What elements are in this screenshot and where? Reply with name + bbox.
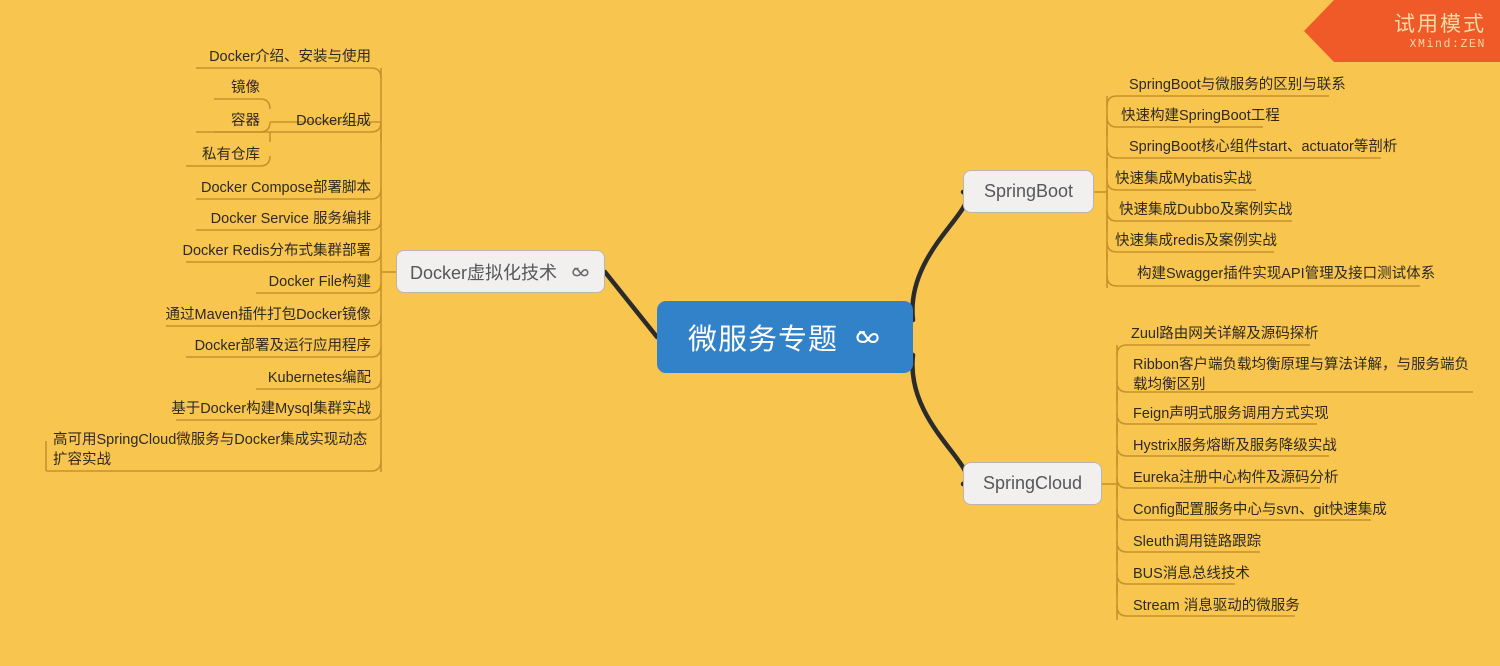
leaf-topic[interactable]: Sleuth调用链路跟踪: [1133, 532, 1261, 552]
branch-node-springboot-label: SpringBoot: [984, 181, 1073, 202]
leaf-topic[interactable]: 通过Maven插件打包Docker镜像: [106, 305, 371, 325]
leaf-topic[interactable]: Docker Redis分布式集群部署: [126, 241, 371, 261]
leaf-topic[interactable]: Docker Service 服务编排: [126, 209, 371, 229]
branch-node-springcloud[interactable]: SpringCloud: [963, 462, 1102, 505]
leaf-topic[interactable]: Stream 消息驱动的微服务: [1133, 596, 1300, 616]
leaf-topic[interactable]: Kubernetes编配: [126, 368, 371, 388]
mindmap-canvas[interactable]: 微服务专题 Docker虚拟化技术 SpringBoot SpringCloud…: [0, 0, 1500, 666]
leaf-topic[interactable]: 快速构建SpringBoot工程: [1121, 106, 1280, 126]
leaf-topic[interactable]: Eureka注册中心构件及源码分析: [1133, 468, 1338, 488]
leaf-topic[interactable]: 镜像: [110, 78, 260, 98]
leaf-topic[interactable]: SpringBoot核心组件start、actuator等剖析: [1129, 137, 1397, 157]
root-node-label: 微服务专题: [688, 316, 838, 358]
leaf-topic[interactable]: Docker介绍、安装与使用: [126, 47, 371, 67]
leaf-topic[interactable]: 构建Swagger插件实现API管理及接口测试体系: [1137, 264, 1435, 284]
root-node[interactable]: 微服务专题: [657, 301, 913, 373]
product-name-label: XMind:ZEN: [1409, 38, 1486, 51]
leaf-topic[interactable]: 高可用SpringCloud微服务与Docker集成实现动态扩容实战: [53, 430, 371, 470]
leaf-topic[interactable]: BUS消息总线技术: [1133, 564, 1250, 584]
leaf-topic[interactable]: 基于Docker构建Mysql集群实战: [116, 399, 371, 419]
leaf-topic[interactable]: Zuul路由网关详解及源码探析: [1131, 324, 1319, 344]
leaf-topic[interactable]: Config配置服务中心与svn、git快速集成: [1133, 500, 1387, 520]
leaf-topic[interactable]: 快速集成redis及案例实战: [1115, 231, 1277, 251]
link-icon: [852, 326, 882, 348]
leaf-topic[interactable]: SpringBoot与微服务的区别与联系: [1129, 75, 1346, 95]
leaf-topic[interactable]: 快速集成Dubbo及案例实战: [1119, 200, 1292, 220]
leaf-topic[interactable]: Hystrix服务熔断及服务降级实战: [1133, 436, 1337, 456]
trial-mode-ribbon[interactable]: 试用模式 XMind:ZEN: [1304, 0, 1500, 62]
leaf-topic[interactable]: Feign声明式服务调用方式实现: [1133, 404, 1329, 424]
branch-node-docker[interactable]: Docker虚拟化技术: [396, 250, 605, 293]
trial-mode-label: 试用模式: [1394, 8, 1486, 38]
leaf-topic[interactable]: Docker Compose部署脚本: [126, 178, 371, 198]
branch-node-springcloud-label: SpringCloud: [983, 473, 1082, 494]
leaf-topic[interactable]: Ribbon客户端负载均衡原理与算法详解，与服务端负载均衡区别: [1133, 355, 1477, 395]
leaf-topic[interactable]: 快速集成Mybatis实战: [1115, 169, 1252, 189]
leaf-topic[interactable]: 私有仓库: [110, 145, 260, 165]
branch-node-springboot[interactable]: SpringBoot: [963, 170, 1094, 213]
link-icon: [569, 264, 591, 280]
leaf-topic[interactable]: 容器: [110, 111, 260, 131]
leaf-topic[interactable]: Docker File构建: [126, 272, 371, 292]
leaf-topic[interactable]: Docker部署及运行应用程序: [126, 336, 371, 356]
branch-node-docker-label: Docker虚拟化技术: [410, 259, 557, 285]
